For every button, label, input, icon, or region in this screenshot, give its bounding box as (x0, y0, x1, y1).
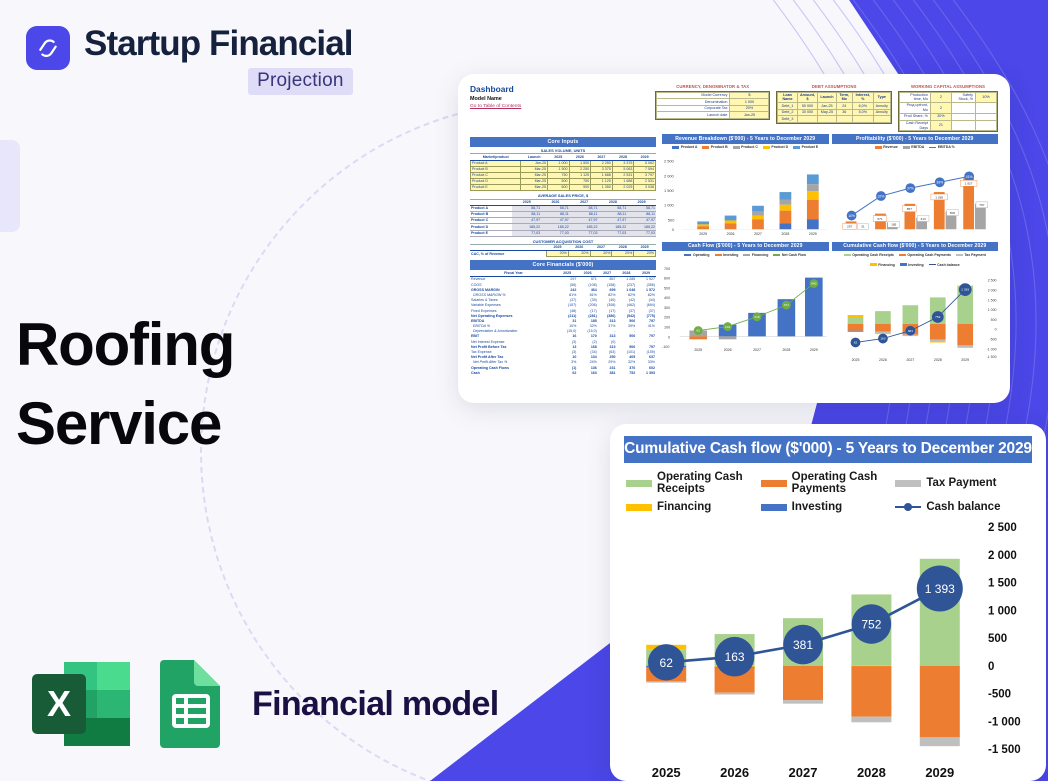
col-header: Term, Mo (836, 92, 853, 103)
cumulative-cash-flow-chart: 2 5002 0001 5001 0005000-500-1 000-1 500… (610, 519, 1046, 781)
svg-text:39%: 39% (936, 180, 943, 184)
legend-item-tax-payment: Tax Payment (895, 471, 1030, 495)
bar-segment (783, 666, 823, 700)
legend-item-cash-balance: Cash balance (895, 501, 1030, 513)
bar-segment (646, 681, 686, 682)
mini-chart-title-revenue: Revenue Breakdown ($'000) - 5 Years to D… (662, 134, 829, 144)
x-axis-tick-label: 2028 (857, 765, 886, 780)
working-capital-table[interactable]: Production time, Mo 2 Safety Stock, % 10… (898, 91, 998, 133)
data-point-label: 62 (660, 656, 674, 670)
legend-item: Operating Cash Receipts (844, 253, 894, 258)
legend-item: Product A (672, 145, 697, 150)
svg-text:2027: 2027 (754, 232, 762, 236)
svg-text:185: 185 (891, 222, 896, 226)
svg-text:37%: 37% (907, 186, 914, 190)
cell-label: Model Currency (656, 92, 729, 99)
mini-chart-legend-profitability: Revenue EBITDA EBITDA % (832, 144, 999, 152)
data-point-label: 163 (725, 650, 745, 664)
svg-text:218: 218 (754, 315, 759, 319)
svg-text:2029: 2029 (810, 348, 818, 352)
legend-item: Product C (733, 145, 758, 150)
svg-text:1 393: 1 393 (961, 287, 969, 291)
legend-item: Financing (743, 253, 768, 258)
cell-label: Corporate Tax (656, 105, 729, 112)
svg-text:2028: 2028 (933, 358, 941, 362)
table-row: Debt_3 (778, 116, 890, 123)
svg-text:700: 700 (664, 267, 670, 271)
row-label: Cash (470, 371, 557, 376)
y-axis-tick-label: 0 (988, 661, 994, 673)
svg-text:2027: 2027 (753, 348, 761, 352)
mini-chart-title-cashflow: Cash Flow ($'000) - 5 Years to December … (662, 242, 829, 252)
table-row: Debt_2 30 000 May-25 36 5,0% Annuity (778, 109, 890, 116)
debt-panel-title: DEBT ASSUMPTIONS (776, 84, 891, 90)
page-title-line-1: Roofing (16, 305, 234, 384)
cell-value[interactable]: 752 (616, 371, 636, 376)
legend-item: Operating Cash Payments (899, 253, 951, 258)
page-title: Roofing Service (16, 305, 234, 463)
svg-text:2028: 2028 (781, 232, 789, 236)
legend-item-financing: Financing (626, 501, 761, 513)
table-of-contents-link[interactable]: Go to Table of Contents (470, 104, 649, 110)
chart-title: Cumulative Cash flow ($'000) - 5 Years t… (624, 436, 1032, 463)
legend-item-operating-cash-receipts: Operating Cash Receipts (626, 471, 761, 495)
legend-swatch (761, 504, 787, 511)
x-axis-tick-label: 2029 (925, 765, 954, 780)
svg-text:41%: 41% (965, 174, 972, 178)
google-sheets-icon (154, 660, 226, 748)
y-axis-tick-label: 2 500 (988, 522, 1017, 534)
core-financials-table[interactable]: Fiscal Year 2025 2026 2027 2028 2029 Rev… (470, 271, 656, 376)
bar-segment (783, 700, 823, 703)
legend-item: EBITDA (903, 145, 925, 150)
mini-chart-title-cumulative: Cumulative Cash flow ($'000) - 5 Years t… (832, 242, 999, 252)
svg-text:1 285: 1 285 (935, 195, 943, 199)
svg-text:400: 400 (664, 296, 670, 300)
brand-subtitle-badge: Projection (248, 68, 353, 95)
data-point-label: 381 (793, 638, 813, 652)
svg-text:1 500: 1 500 (664, 188, 675, 193)
svg-text:10%: 10% (848, 213, 855, 217)
legend-label: Operating Cash Receipts (657, 471, 761, 495)
svg-text:2029: 2029 (961, 358, 969, 362)
svg-text:0: 0 (672, 227, 675, 232)
core-financials-band: Core Financials ($'000) (470, 260, 656, 270)
legend-swatch (895, 480, 921, 487)
svg-text:163: 163 (880, 336, 885, 340)
legend-swatch (626, 504, 652, 511)
legend-label: Investing (792, 501, 842, 513)
svg-text:-1 500: -1 500 (986, 355, 996, 359)
chart-legend: Operating Cash Receipts Operating Cash P… (626, 471, 1030, 513)
brand-header: Startup Financial Projection (26, 26, 353, 95)
mini-chart-profitability: 10%32%37% 39%41% 297 31 571 185 857 313 (832, 152, 999, 238)
svg-text:2029: 2029 (809, 232, 817, 236)
mini-chart-legend-revenue: Product A Product B Product C Product D … (662, 144, 829, 152)
dashboard-title: Dashboard (470, 84, 649, 95)
table-row: Product E 77,03 77,03 77,03 77,03 77,03 (470, 230, 656, 236)
cell-value[interactable]: 1 393 (636, 371, 656, 376)
svg-text:1 500: 1 500 (987, 298, 996, 302)
legend-item-investing: Investing (761, 501, 896, 513)
x-axis-tick-label: 2027 (789, 765, 818, 780)
svg-text:101: 101 (725, 325, 730, 329)
table-row: CAC, % of Revenue 20% 20% 20% 20% 20% (470, 251, 656, 257)
svg-text:0: 0 (994, 327, 996, 331)
svg-text:2025: 2025 (851, 358, 859, 362)
svg-text:2028: 2028 (782, 348, 790, 352)
legend-item: Investing (900, 263, 924, 268)
legend-label: Financing (657, 501, 711, 513)
cell-value[interactable]: 163 (577, 371, 597, 376)
svg-text:297: 297 (847, 224, 852, 228)
y-axis-tick-label: -1 500 (988, 744, 1021, 756)
currency-panel[interactable]: Model Currency $ Denomination 1 000 Corp… (655, 91, 770, 120)
svg-text:2 500: 2 500 (664, 158, 675, 163)
svg-text:0: 0 (668, 335, 670, 339)
mini-chart-revenue-breakdown: 2 5002 0001 500 1 0005000 (662, 152, 829, 238)
cell-label: Denomination (656, 99, 729, 106)
cumulative-cash-flow-card[interactable]: Cumulative Cash flow ($'000) - 5 Years t… (610, 424, 1046, 781)
legend-item: Net Cash Flow (773, 253, 806, 258)
svg-text:857: 857 (906, 207, 911, 211)
cac-table[interactable]: 2025 2026 2027 2028 2029 CAC, % of Reven… (470, 245, 656, 257)
bar-segment (920, 737, 960, 746)
svg-text:2026: 2026 (724, 348, 732, 352)
svg-text:62: 62 (853, 340, 857, 344)
mini-chart-cumulative-cash-flow: 2 5002 0001 500 1 0005000 -500-1 000-1 5… (832, 269, 999, 365)
y-axis-tick-label: 1 500 (988, 578, 1017, 590)
svg-text:1 000: 1 000 (987, 308, 996, 312)
svg-text:2026: 2026 (727, 232, 735, 236)
svg-text:2026: 2026 (879, 358, 887, 362)
legend-item: Cash balance (929, 263, 960, 268)
y-axis-tick-label: -1 000 (988, 716, 1021, 728)
svg-text:200: 200 (664, 316, 670, 320)
cell-value[interactable]: 1 000 (730, 99, 769, 106)
microsoft-excel-icon: X (30, 660, 132, 748)
cell-value[interactable]: 20% (730, 105, 769, 112)
footer-label: Financial model (252, 685, 498, 724)
svg-text:2 000: 2 000 (664, 173, 675, 178)
e-loop-logo-icon (26, 26, 70, 70)
y-axis-tick-label: 500 (988, 633, 1007, 645)
legend-item: Investing (715, 253, 739, 258)
svg-text:31: 31 (861, 224, 865, 228)
working-capital-panel-title: WORKING CAPITAL ASSUMPTIONS (898, 84, 998, 90)
svg-text:600: 600 (664, 277, 670, 281)
y-axis-tick-label: -500 (988, 689, 1011, 701)
cell-value[interactable]: Jan-25 (730, 112, 769, 119)
bar-segment (851, 717, 891, 723)
dashboard-preview-card[interactable]: Dashboard Model Name Go to Table of Cont… (458, 74, 1010, 403)
svg-text:500: 500 (664, 286, 670, 290)
y-axis-tick-label: 1 000 (988, 605, 1017, 617)
footer-row: X Financial model (30, 660, 498, 748)
col-header: Launch (818, 92, 836, 103)
col-header: Loan Name (778, 92, 797, 103)
svg-text:1 000: 1 000 (664, 202, 675, 207)
legend-item: Product D (763, 145, 788, 150)
legend-item: Product E (793, 145, 818, 150)
x-axis-tick-label: 2026 (720, 765, 749, 780)
cell-label: Launch date (656, 112, 729, 119)
legend-label: Operating Cash Payments (792, 471, 896, 495)
brand-title: Startup Financial (84, 26, 353, 61)
cell-value[interactable]: 381 (598, 371, 617, 376)
legend-item-operating-cash-payments: Operating Cash Payments (761, 471, 896, 495)
mini-chart-title-profitability: Profitability ($'000) - 5 Years to Decem… (832, 134, 999, 144)
legend-item: Tax Payment (956, 253, 986, 258)
legend-swatch (761, 480, 787, 487)
svg-text:313: 313 (920, 216, 925, 220)
svg-text:506: 506 (949, 211, 954, 215)
poster-root: Startup Financial Projection Roofing Ser… (0, 0, 1048, 781)
mini-chart-legend-cumulative: Operating Cash Receipts Operating Cash P… (832, 251, 999, 268)
x-axis-tick-label: 2025 (652, 765, 681, 780)
currency-panel-title: CURRENCY, DENOMINATOR & TAX (655, 84, 770, 90)
table-row[interactable]: Cash621633817521 393 (470, 371, 656, 376)
svg-text:2025: 2025 (699, 232, 707, 236)
core-inputs-band: Core Inputs (470, 137, 656, 147)
bar-segment (851, 666, 891, 717)
sales-volume-table[interactable]: Market/product Launch 2025 2026 2027 202… (470, 154, 656, 191)
svg-text:500: 500 (990, 318, 996, 322)
svg-text:-500: -500 (989, 337, 996, 341)
svg-text:2025: 2025 (694, 348, 702, 352)
model-name-label: Model Name (470, 96, 649, 103)
legend-item: Financing (870, 263, 895, 268)
legend-line-marker (895, 506, 921, 508)
mini-chart-cash-flow: 700600500400 3002001000 -100 (662, 259, 829, 355)
svg-text:500: 500 (668, 217, 675, 222)
left-chip-decoration (0, 140, 20, 232)
svg-text:X: X (47, 683, 71, 724)
y-axis-tick-label: 2 000 (988, 550, 1017, 562)
svg-text:100: 100 (664, 326, 670, 330)
col-header: Amount, $ (797, 92, 818, 103)
legend-swatch (626, 480, 652, 487)
dashboard-sheet: Dashboard Model Name Go to Table of Cont… (458, 74, 1010, 403)
legend-item: EBITDA % (929, 145, 954, 150)
table-row: Debt_1 50 000 Jan-25 24 6,0% Annuity (778, 103, 890, 110)
svg-text:300: 300 (664, 306, 670, 310)
col-header: Type (873, 92, 890, 103)
legend-label: Tax Payment (926, 477, 996, 489)
table-row: Product E Mar-25 600 900 1 350 2 025 3 0… (471, 185, 656, 191)
svg-text:797: 797 (979, 203, 984, 207)
svg-text:571: 571 (877, 216, 882, 220)
legend-item: Operating (684, 253, 709, 258)
debt-assumptions-table[interactable]: Loan Name Amount, $ Launch Term, Mo Inte… (776, 91, 891, 125)
cell-value[interactable]: $ (730, 92, 769, 99)
svg-text:32%: 32% (877, 194, 884, 198)
data-point-label: 752 (861, 618, 881, 632)
svg-text:2027: 2027 (906, 358, 914, 362)
svg-text:2 000: 2 000 (987, 288, 996, 292)
svg-text:371: 371 (784, 303, 789, 307)
page-title-line-2: Service (16, 384, 234, 463)
legend-item: Revenue (875, 145, 898, 150)
svg-text:-100: -100 (662, 345, 669, 349)
mini-chart-legend-cashflow: Operating Investing Financing Net Cash F… (662, 251, 829, 259)
svg-text:2 500: 2 500 (987, 278, 996, 282)
legend-item: Product B (702, 145, 727, 150)
bar-segment (715, 693, 755, 695)
col-header: Interest, % (853, 92, 874, 103)
bar-segment (920, 666, 960, 738)
average-price-table[interactable]: 2025 2026 2027 2028 2029 Product A 58,71… (470, 200, 656, 237)
svg-text:62: 62 (696, 329, 700, 333)
legend-label: Cash balance (926, 501, 1000, 513)
svg-text:1 927: 1 927 (964, 181, 972, 185)
svg-text:752: 752 (935, 315, 940, 319)
cell-value[interactable]: 62 (557, 371, 577, 376)
svg-text:-1 000: -1 000 (986, 347, 996, 351)
svg-text:381: 381 (907, 328, 912, 332)
data-point-label: 1 393 (925, 582, 955, 596)
svg-text:640: 640 (811, 282, 816, 286)
